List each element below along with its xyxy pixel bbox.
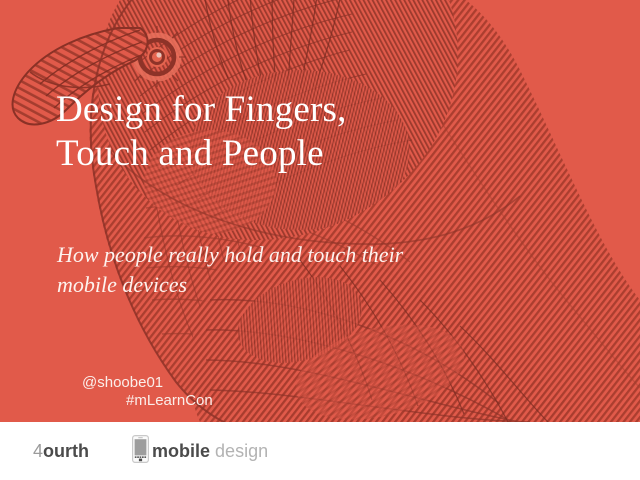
logo-text-design: design — [215, 441, 268, 461]
logo-text-ourth: ourth — [43, 441, 89, 461]
slide-content: Design for Fingers, Touch and People How… — [0, 0, 640, 422]
slide-subtitle: How people really hold and touch their m… — [57, 240, 527, 300]
presentation-slide: Design for Fingers, Touch and People How… — [0, 0, 640, 480]
logo-text-mobile: mobile — [152, 441, 210, 461]
slide-footer: 4 ourth mobile — [0, 422, 640, 480]
event-hashtag: #mLearnCon — [126, 392, 213, 409]
slide-title: Design for Fingers, Touch and People — [56, 88, 576, 176]
twitter-handle: @shoobe01 — [82, 374, 163, 391]
smartphone-icon — [92, 415, 149, 480]
title-line-1: Design for Fingers, — [56, 88, 576, 132]
logo-text-four: 4 — [33, 441, 43, 461]
subtitle-line-1: How people really hold and touch their — [57, 240, 527, 270]
title-line-2: Touch and People — [56, 132, 576, 176]
fourth-mobile-design-logo: 4 ourth mobile — [33, 438, 268, 464]
subtitle-line-2: mobile devices — [57, 270, 527, 300]
